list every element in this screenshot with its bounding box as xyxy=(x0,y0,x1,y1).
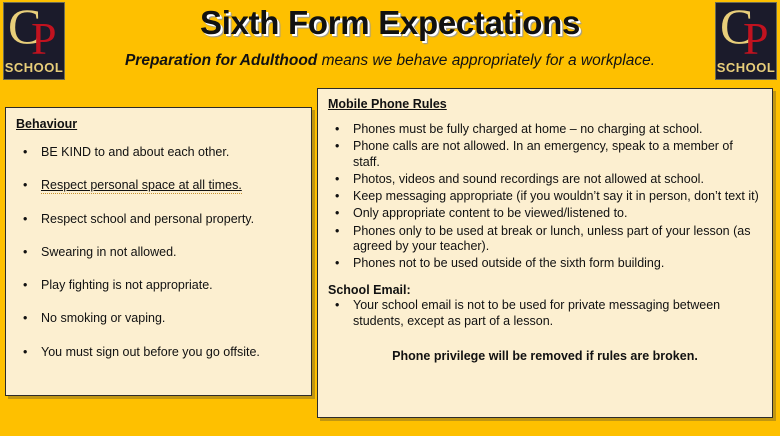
list-item-text: Your school email is not to be used for … xyxy=(353,298,720,327)
list-item-text: Play fighting is not appropriate. xyxy=(41,278,213,292)
behaviour-list: BE KIND to and about each other. Respect… xyxy=(16,145,301,360)
list-item-text: You must sign out before you go offsite. xyxy=(41,345,260,359)
behaviour-panel: Behaviour BE KIND to and about each othe… xyxy=(5,107,312,396)
list-item-text: Phones must be fully charged at home – n… xyxy=(353,122,703,136)
page-subtitle-rest: means we behave appropriately for a work… xyxy=(317,52,655,69)
school-email-heading: School Email: xyxy=(328,283,762,297)
logo-wordmark: SCHOOL xyxy=(4,60,64,75)
list-item-text: Respect personal space at all times. xyxy=(41,178,242,194)
list-item: Swearing in not allowed. xyxy=(16,245,301,260)
school-email-list: Your school email is not to be used for … xyxy=(328,298,762,329)
list-item-text: Phones only to be used at break or lunch… xyxy=(353,224,750,253)
list-item: Phones not to be used outside of the six… xyxy=(328,256,762,271)
logo-wordmark: SCHOOL xyxy=(716,60,776,75)
list-item-text: Keep messaging appropriate (if you would… xyxy=(353,189,759,203)
school-logo-left: C P SCHOOL xyxy=(3,2,65,80)
list-item: Keep messaging appropriate (if you would… xyxy=(328,189,762,204)
logo-letter-p-icon: P xyxy=(31,16,57,62)
logo-letter-p-icon: P xyxy=(743,16,769,62)
list-item-text: Only appropriate content to be viewed/li… xyxy=(353,206,627,220)
list-item: No smoking or vaping. xyxy=(16,311,301,326)
page-title: Sixth Form Expectations xyxy=(70,4,710,42)
phone-rules-list: Phones must be fully charged at home – n… xyxy=(328,122,762,271)
list-item: Play fighting is not appropriate. xyxy=(16,278,301,293)
list-item-text: No smoking or vaping. xyxy=(41,311,165,325)
list-item: Respect personal space at all times. xyxy=(16,178,301,193)
list-item: Respect school and personal property. xyxy=(16,212,301,227)
list-item-text: Phone calls are not allowed. In an emerg… xyxy=(353,139,733,168)
phone-privilege-warning: Phone privilege will be removed if rules… xyxy=(328,349,762,363)
list-item: Phone calls are not allowed. In an emerg… xyxy=(328,139,762,170)
list-item: Only appropriate content to be viewed/li… xyxy=(328,206,762,221)
list-item: Phones must be fully charged at home – n… xyxy=(328,122,762,137)
school-email-section: School Email: Your school email is not t… xyxy=(328,283,762,329)
page-subtitle-emphasis: Preparation for Adulthood xyxy=(125,52,317,69)
mobile-phone-rules-panel: Mobile Phone Rules Phones must be fully … xyxy=(317,88,773,418)
phone-panel-heading: Mobile Phone Rules xyxy=(328,97,762,111)
behaviour-panel-heading: Behaviour xyxy=(16,117,301,131)
page-header: C P SCHOOL C P SCHOOL Sixth Form Expecta… xyxy=(0,0,780,86)
list-item-text: Photos, videos and sound recordings are … xyxy=(353,172,704,186)
school-logo-right: C P SCHOOL xyxy=(715,2,777,80)
list-item: You must sign out before you go offsite. xyxy=(16,345,301,360)
list-item: Photos, videos and sound recordings are … xyxy=(328,172,762,187)
list-item-text: Phones not to be used outside of the six… xyxy=(353,256,664,270)
list-item-text: BE KIND to and about each other. xyxy=(41,145,229,159)
list-item: Phones only to be used at break or lunch… xyxy=(328,224,762,255)
list-item-text: Respect school and personal property. xyxy=(41,212,254,226)
page-subtitle: Preparation for Adulthood means we behav… xyxy=(60,52,720,70)
list-item-text: Swearing in not allowed. xyxy=(41,245,177,259)
list-item: BE KIND to and about each other. xyxy=(16,145,301,160)
list-item: Your school email is not to be used for … xyxy=(328,298,762,329)
